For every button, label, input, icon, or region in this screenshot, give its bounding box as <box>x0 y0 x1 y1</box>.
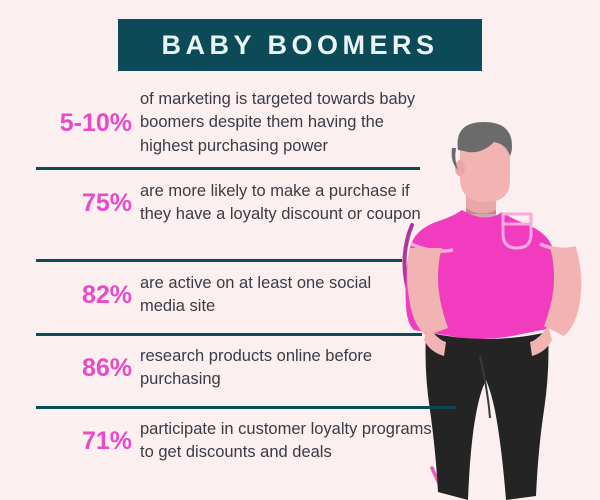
right-hand-shape <box>530 326 552 356</box>
stat-value: 5-10% <box>36 111 140 136</box>
infographic-root: BABY BOOMERS 5-10% of marketing is targe… <box>0 0 600 500</box>
collar-shadow <box>466 208 496 224</box>
hair-shape <box>458 122 512 156</box>
shirt-pocket-icon <box>503 214 531 248</box>
stat-description: are active on at least one social media … <box>140 272 416 319</box>
sleeve-hem-left <box>411 244 453 251</box>
decorative-stroke <box>432 468 442 490</box>
pants-shape <box>426 332 549 500</box>
divider-2 <box>36 259 402 262</box>
stat-row-5: 71% participate in customer loyalty prog… <box>36 418 436 465</box>
stat-row-1: 5-10% of marketing is targeted towards b… <box>36 88 436 158</box>
stat-value: 82% <box>36 283 140 308</box>
stat-row-3: 82% are active on at least one social me… <box>36 272 416 319</box>
divider-3 <box>36 333 422 336</box>
stat-description: are more likely to make a purchase if th… <box>140 180 424 227</box>
leg-separation-line <box>480 356 490 418</box>
stat-description: of marketing is targeted towards baby bo… <box>140 88 436 158</box>
sleeve-hem-right <box>540 244 576 249</box>
ear-shape <box>455 160 465 176</box>
divider-4 <box>36 406 456 409</box>
right-arm-shape <box>544 248 581 336</box>
stat-value: 86% <box>36 356 140 381</box>
stat-description: research products online before purchasi… <box>140 345 416 392</box>
hair-side-shape <box>452 148 458 170</box>
title-banner: BABY BOOMERS <box>118 19 482 71</box>
stat-value: 71% <box>36 429 140 454</box>
stat-row-2: 75% are more likely to make a purchase i… <box>36 180 424 227</box>
stat-value: 75% <box>36 191 140 216</box>
divider-1 <box>36 167 420 170</box>
page-title: BABY BOOMERS <box>161 32 438 59</box>
stat-description: participate in customer loyalty programs… <box>140 418 436 465</box>
head-shape <box>460 124 510 202</box>
left-hand-shape <box>424 326 446 356</box>
stat-row-4: 86% research products online before purc… <box>36 345 416 392</box>
neck-shape <box>466 170 496 214</box>
tshirt-shape <box>406 210 561 339</box>
